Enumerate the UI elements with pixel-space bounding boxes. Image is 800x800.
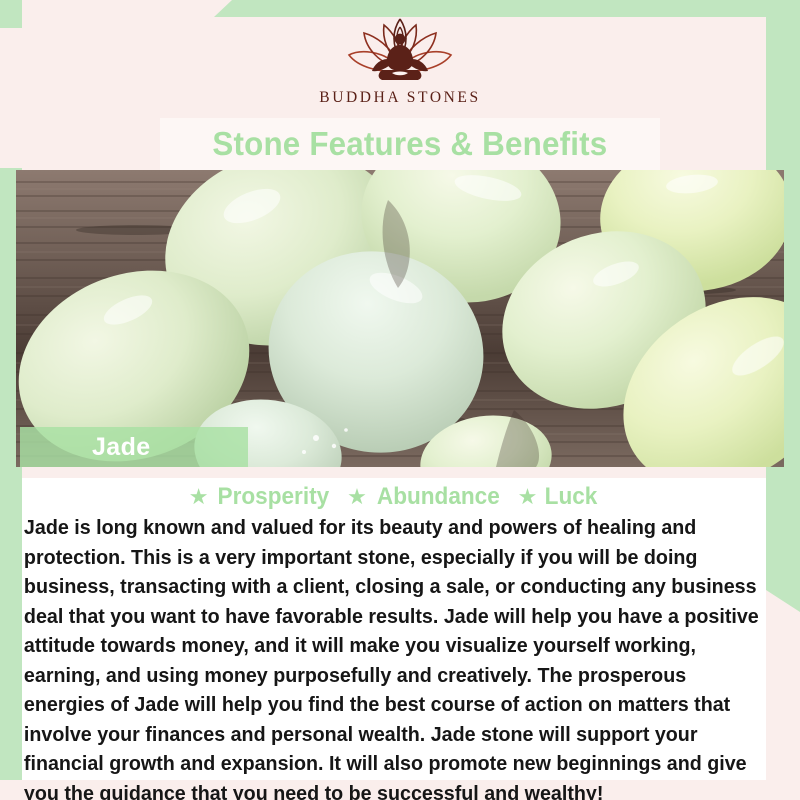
benefit-label: Prosperity — [218, 483, 330, 511]
decorative-band-left-lower — [0, 450, 22, 780]
stone-name-band: Jade — [20, 427, 248, 467]
star-icon: ★ — [189, 486, 209, 508]
stone-description: Jade is long known and valued for its be… — [22, 512, 765, 800]
stone-name: Jade — [92, 433, 151, 462]
benefits-list: ★ Prosperity ★ Abundance ★ Luck — [22, 478, 766, 512]
stone-info-poster: BUDDHA STONES Stone Features & Benefits — [0, 0, 800, 800]
star-icon: ★ — [518, 486, 538, 508]
stone-details-card: ★ Prosperity ★ Abundance ★ Luck Jade is … — [22, 478, 766, 780]
benefit-label: Luck — [545, 483, 598, 511]
brand-logo: BUDDHA STONES — [0, 0, 800, 118]
benefit-label: Abundance — [377, 483, 500, 511]
benefit-item-luck: ★ Luck — [518, 483, 600, 511]
benefit-item-prosperity: ★ Prosperity — [189, 483, 333, 511]
benefit-item-abundance: ★ Abundance — [347, 483, 503, 511]
page-title-text: Stone Features & Benefits — [213, 125, 608, 163]
brand-name: BUDDHA STONES — [319, 89, 480, 107]
stone-photo — [16, 170, 784, 467]
star-icon: ★ — [347, 486, 367, 508]
page-title: Stone Features & Benefits — [160, 118, 660, 170]
lotus-meditation-icon — [330, 15, 470, 87]
